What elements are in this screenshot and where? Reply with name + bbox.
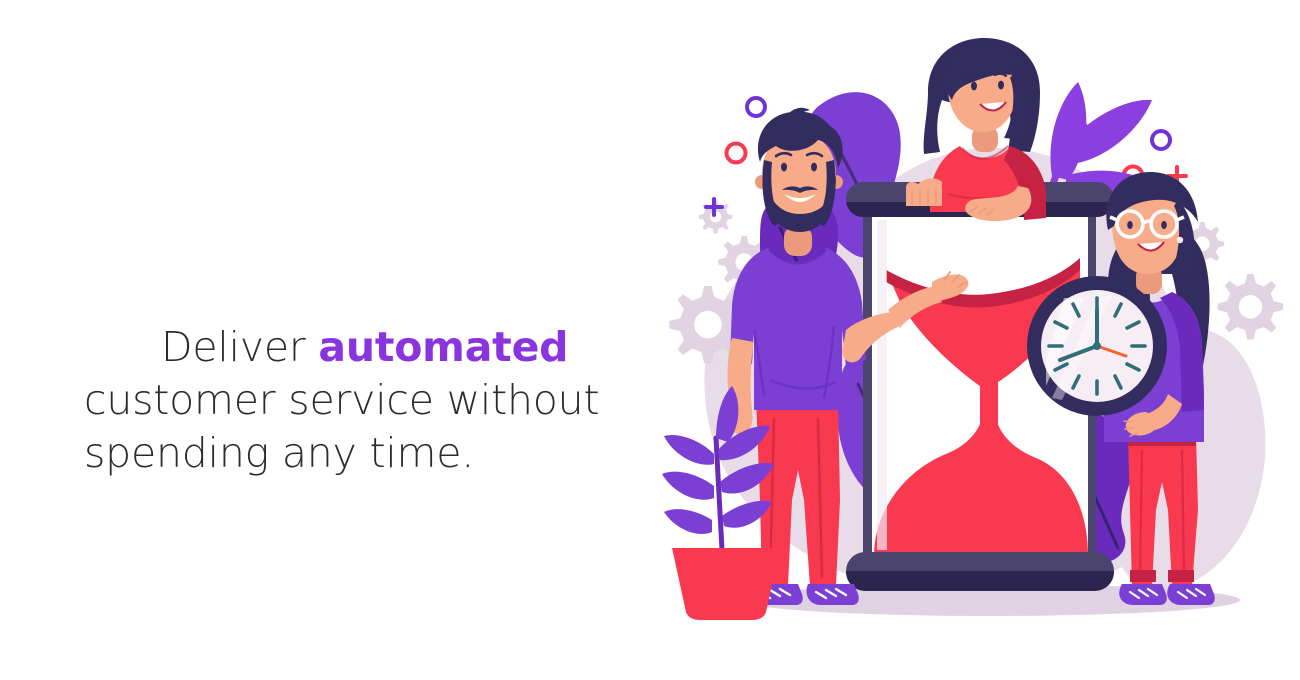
headline-segment-1: Deliver bbox=[161, 323, 318, 371]
woman-top-eye-left bbox=[971, 82, 977, 91]
wall-clock bbox=[1027, 276, 1167, 416]
circle-decor-red-1 bbox=[727, 144, 746, 163]
gear-icon-4 bbox=[1218, 274, 1284, 340]
woman-right-shoe-right bbox=[1167, 584, 1215, 605]
woman-top-hand-left bbox=[906, 178, 942, 206]
woman-right-earring bbox=[1177, 237, 1183, 243]
plant-pot bbox=[672, 548, 780, 620]
man-shoe-right bbox=[807, 584, 859, 605]
clock-center-pin bbox=[1093, 342, 1101, 350]
headline-block: Deliver automated customer service witho… bbox=[84, 268, 684, 533]
woman-right-eye-right bbox=[1161, 221, 1167, 229]
woman-right-cuff-r bbox=[1168, 570, 1194, 582]
hourglass-bottom-cap bbox=[846, 552, 1114, 591]
man-eye-left bbox=[781, 163, 787, 172]
circle-decor-purple-1 bbox=[747, 98, 765, 116]
circle-decor-purple-2 bbox=[1152, 131, 1170, 149]
woman-right-eye-left bbox=[1127, 221, 1133, 229]
hourglass-teamwork-illustration bbox=[660, 30, 1300, 650]
woman-right-cuff-l bbox=[1130, 570, 1156, 582]
hero-section: Deliver automated customer service witho… bbox=[0, 0, 1300, 680]
man-eye-right bbox=[811, 163, 817, 172]
page-title: Deliver automated customer service witho… bbox=[84, 268, 684, 533]
woman-top-eye-right bbox=[998, 81, 1004, 90]
headline-accent-word: automated bbox=[318, 323, 568, 371]
woman-right-shoe-left bbox=[1119, 584, 1167, 605]
woman-top bbox=[906, 38, 1046, 221]
